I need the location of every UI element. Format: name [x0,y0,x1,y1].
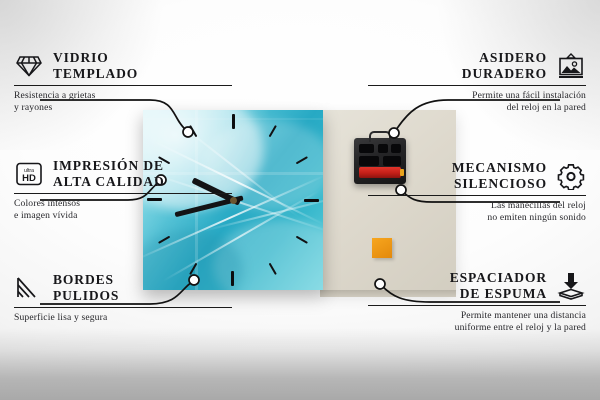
divider [14,193,232,194]
feature-espaciador-de-espuma: ESPACIADOR DE ESPUMA Permite mantener un… [368,270,586,333]
feature-mecanismo-silencioso: MECANISMO SILENCIOSO Las manecillas del … [368,160,586,223]
diamond-icon [14,51,44,81]
divider [14,307,232,308]
infographic-canvas: VIDRIO TEMPLADO Resistencia a grietas y … [0,0,600,400]
feature-desc: uniforme entre el reloj y la pared [368,322,586,334]
divider [368,305,586,306]
divider [368,85,586,86]
feature-desc: Colores intensos [14,198,232,210]
feature-title: ASIDERO [462,50,547,66]
feature-title: BORDES [53,272,119,288]
feature-title: IMPRESIÓN DE [53,158,165,174]
feature-desc: Resistencia a grietas [14,90,232,102]
feature-title: MECANISMO [452,160,547,176]
foam-spacer-arrow-icon [556,271,586,301]
feature-desc: e imagen vívida [14,210,232,222]
feature-title: TEMPLADO [53,66,138,82]
ultra-hd-icon: ultra HD [14,159,44,189]
feature-title: DE ESPUMA [450,286,547,302]
feature-desc: Las manecillas del reloj [368,200,586,212]
divider [14,85,232,86]
feature-impresion-alta-calidad: ultra HD IMPRESIÓN DE ALTA CALIDAD Color… [14,158,232,221]
gear-icon [556,161,586,191]
feature-desc: y rayones [14,102,232,114]
svg-text:HD: HD [22,173,36,184]
feature-title: PULIDOS [53,288,119,304]
feature-title: ESPACIADOR [450,270,547,286]
feature-desc: Superficie lisa y segura [14,312,232,324]
feature-desc: no emiten ningún sonido [368,212,586,224]
polished-edges-icon [14,273,44,303]
feature-title: SILENCIOSO [452,176,547,192]
feature-title: ALTA CALIDAD [53,174,165,190]
feature-desc: Permite una fácil instalación [368,90,586,102]
feature-vidrio-templado: VIDRIO TEMPLADO Resistencia a grietas y … [14,50,232,113]
picture-frame-hanger-icon [556,51,586,81]
feature-bordes-pulidos: BORDES PULIDOS Superficie lisa y segura [14,272,232,324]
feature-desc: del reloj en la pared [368,102,586,114]
feature-asidero-duradero: ASIDERO DURADERO Permite una fácil insta… [368,50,586,113]
feature-desc: Permite mantener una distancia [368,310,586,322]
feature-title: VIDRIO [53,50,138,66]
feature-title: DURADERO [462,66,547,82]
divider [368,195,586,196]
